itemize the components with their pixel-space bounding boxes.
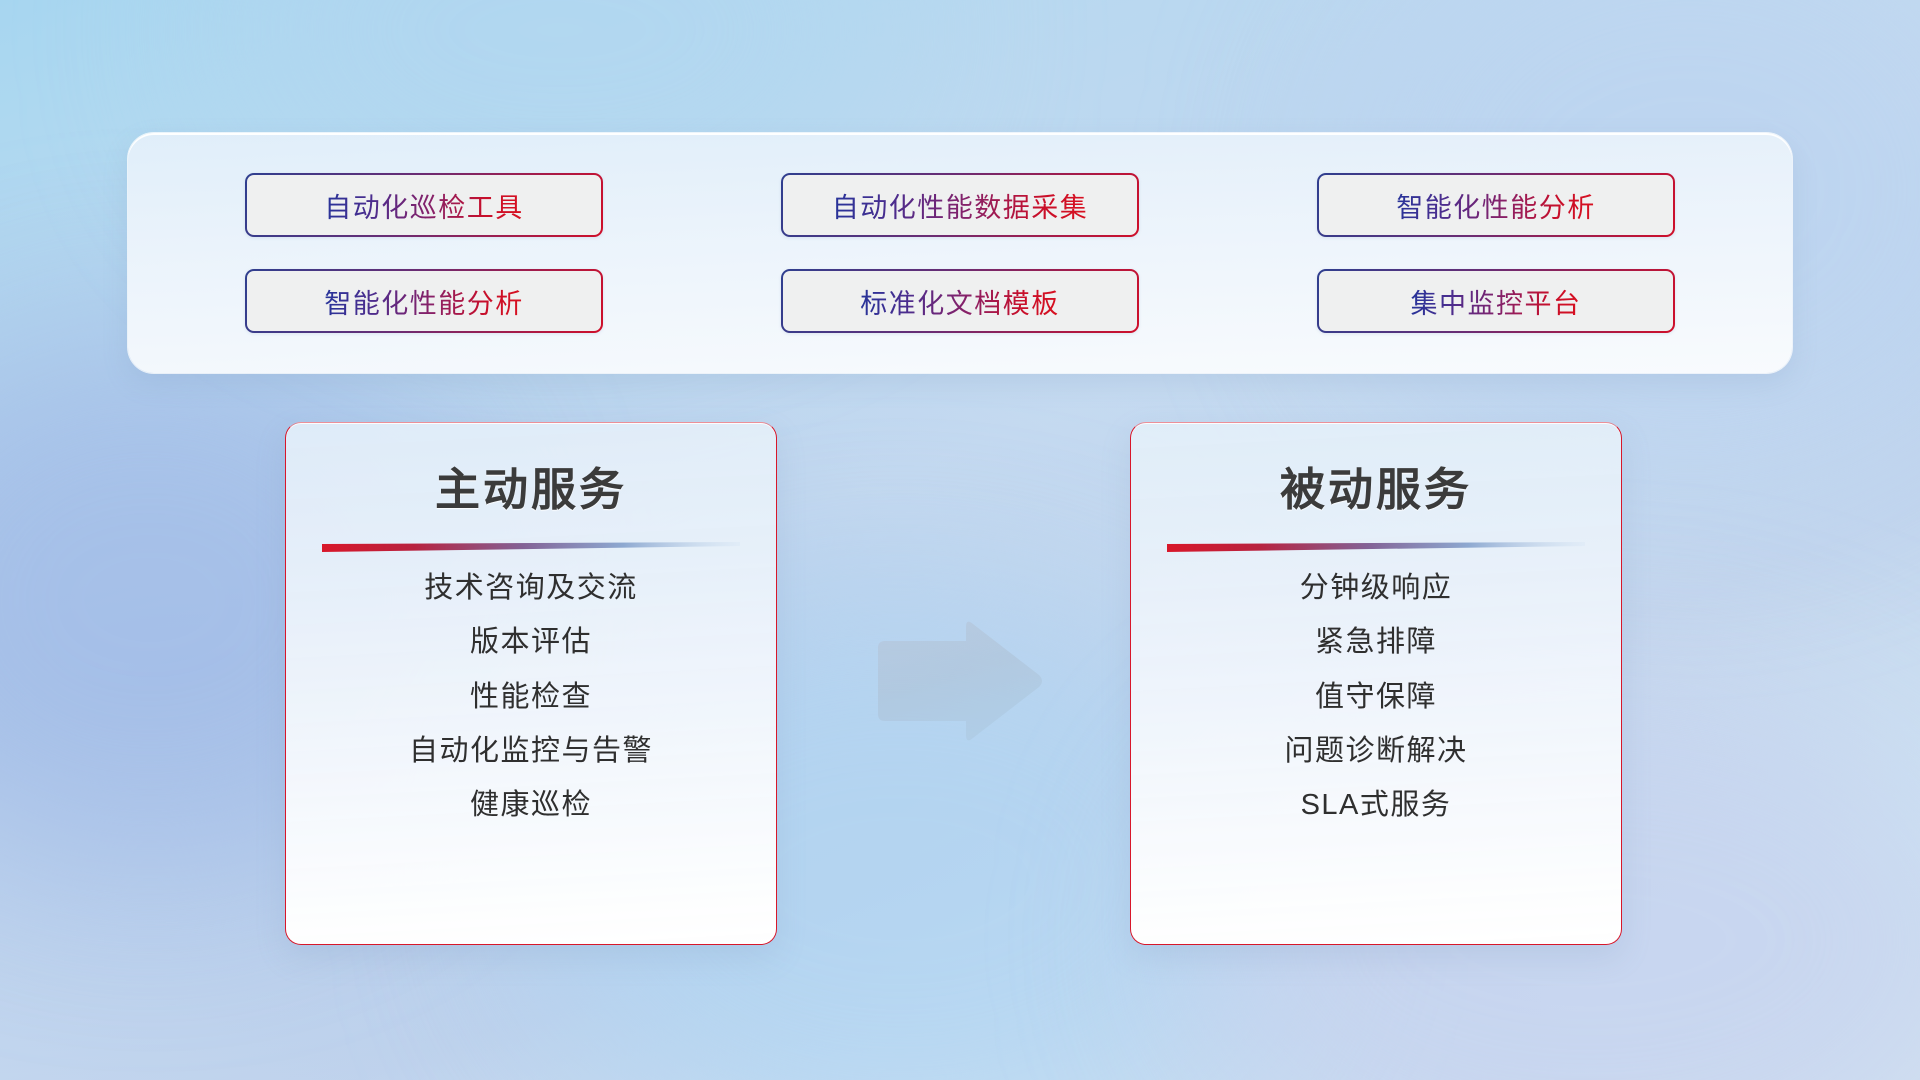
service-list-item: 版本评估 [470,626,592,659]
capability-tag-label: 自动化巡检工具 [324,186,524,225]
capability-tag-label: 智能化性能分析 [1396,186,1596,225]
capability-tag[interactable]: 标准化文档模板 [781,269,1139,333]
capability-tags-panel: 自动化巡检工具 自动化性能数据采集 智能化性能分析 智能化性能分析 [128,133,1792,373]
capability-tag[interactable]: 集中监控平台 [1317,269,1675,333]
capability-tag-body: 自动化巡检工具 [247,175,601,235]
service-list-item: 技术咨询及交流 [424,572,638,605]
service-list-item: SLA式服务 [1301,789,1452,822]
service-card-title: 被动服务 [1131,453,1621,518]
service-card-title: 主动服务 [286,453,776,518]
slide-canvas: 自动化巡检工具 自动化性能数据采集 智能化性能分析 智能化性能分析 [0,0,1920,1080]
capability-tags-grid: 自动化巡检工具 自动化性能数据采集 智能化性能分析 智能化性能分析 [128,173,1792,333]
card-divider-wrap [1131,540,1621,554]
capability-tag[interactable]: 自动化性能数据采集 [781,173,1139,237]
gradient-divider-icon [322,540,740,554]
capability-tag[interactable]: 智能化性能分析 [245,269,603,333]
capability-tag-body: 智能化性能分析 [1319,175,1673,235]
service-list-item: 紧急排障 [1315,626,1437,659]
capability-tag-label: 自动化性能数据采集 [832,186,1089,225]
flow-arrow-right-icon [872,618,1048,744]
capability-tag-body: 自动化性能数据采集 [783,175,1137,235]
service-list-item: 性能检查 [470,681,592,714]
capability-tag[interactable]: 自动化巡检工具 [245,173,603,237]
capability-tag[interactable]: 智能化性能分析 [1317,173,1675,237]
capability-tag-body: 智能化性能分析 [247,271,601,331]
service-list-item: 分钟级响应 [1300,572,1453,605]
arrow-shape [878,622,1042,741]
service-list-item: 值守保障 [1315,681,1437,714]
capability-tag-label: 集中监控平台 [1411,282,1582,321]
capability-tag-label: 智能化性能分析 [324,282,524,321]
capability-tag-label: 标准化文档模板 [860,282,1060,321]
service-card-list: 分钟级响应 紧急排障 值守保障 问题诊断解决 SLA式服务 [1131,572,1621,823]
service-list-item: 健康巡检 [470,789,592,822]
service-list-item: 问题诊断解决 [1284,735,1467,768]
card-divider-wrap [286,540,776,554]
gradient-divider-icon [1167,540,1585,554]
capability-tag-body: 集中监控平台 [1319,271,1673,331]
capability-tag-body: 标准化文档模板 [783,271,1137,331]
service-list-item: 自动化监控与告警 [409,735,653,768]
service-card-active[interactable]: 主动服务 技术咨询及交流 版本评估 性能检查 自动化监控与告警 [285,422,777,945]
service-card-passive[interactable]: 被动服务 分钟级响应 紧急排障 值守保障 问题诊断解决 [1130,422,1622,945]
service-card-list: 技术咨询及交流 版本评估 性能检查 自动化监控与告警 健康巡检 [286,572,776,823]
